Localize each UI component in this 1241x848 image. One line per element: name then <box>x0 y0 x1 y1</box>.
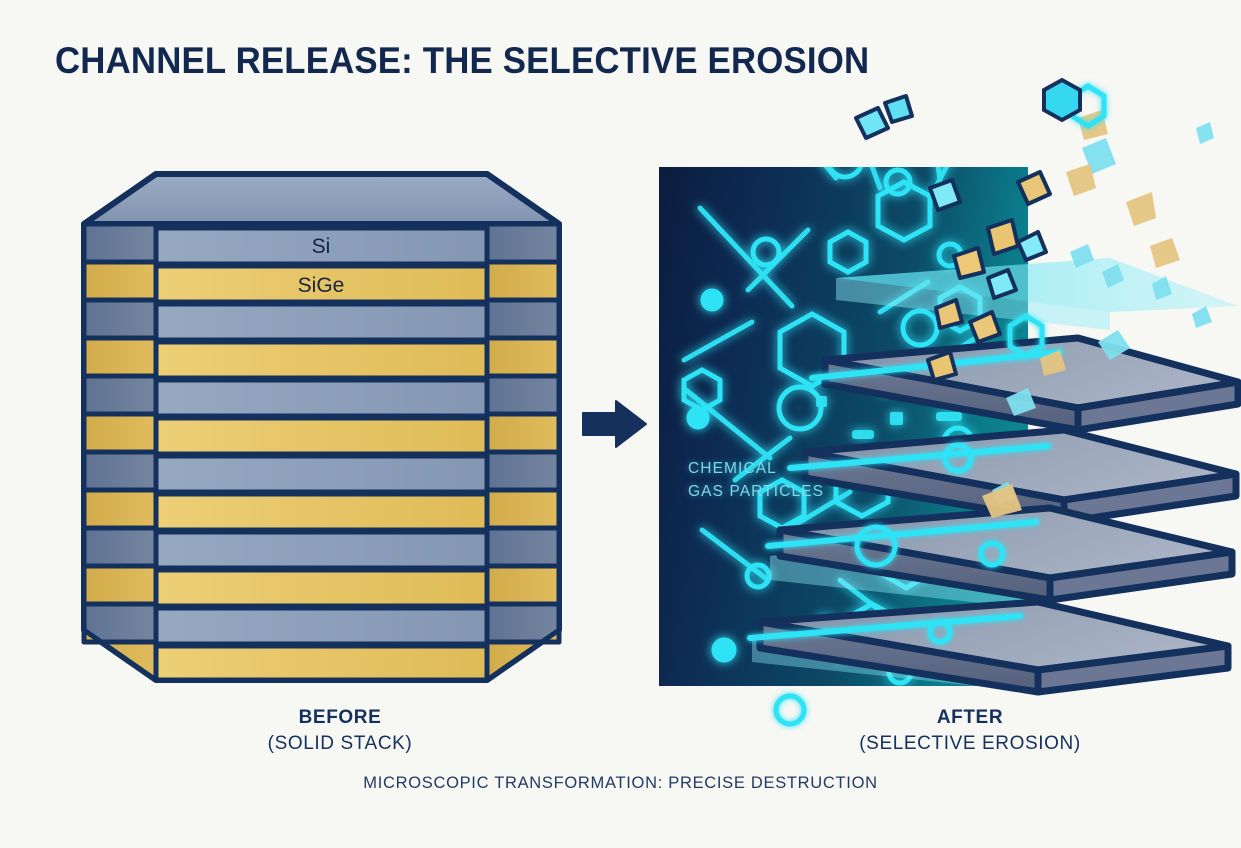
layer-si <box>156 608 487 644</box>
before-caption: BEFORE (SOLID STACK) <box>160 705 520 757</box>
after-caption-main: AFTER <box>790 705 1150 731</box>
layer-si <box>156 380 487 416</box>
footer-caption: MICROSCOPIC TRANSFORMATION: PRECISE DEST… <box>0 774 1241 793</box>
layer-si <box>156 532 487 568</box>
layer-sige <box>156 494 487 530</box>
layer-sige <box>156 342 487 378</box>
after-caption: AFTER (SELECTIVE EROSION) <box>790 705 1150 757</box>
layer-sige <box>156 418 487 454</box>
before-caption-sub: (SOLID STACK) <box>160 731 520 757</box>
diagram-canvas: CHANNEL RELEASE: THE SELECTIVE EROSION <box>0 0 1241 848</box>
layer-sige <box>156 570 487 606</box>
layer-sige <box>156 646 487 680</box>
before-stack-svg: Si SiGe <box>78 168 565 686</box>
before-caption-main: BEFORE <box>160 705 520 731</box>
after-scene-svg <box>640 60 1241 710</box>
after-illustration: CHEMICAL GAS PARTICLES <box>640 60 1241 710</box>
ghost-slab <box>836 258 1238 330</box>
layer-label-si: Si <box>312 235 331 258</box>
layer-si <box>156 304 487 340</box>
after-caption-sub: (SELECTIVE EROSION) <box>790 731 1150 757</box>
layer-si <box>156 456 487 492</box>
layer-label-sige: SiGe <box>298 274 345 297</box>
arrow-right-icon <box>583 401 646 447</box>
before-stack-illustration: Si SiGe <box>78 168 565 686</box>
